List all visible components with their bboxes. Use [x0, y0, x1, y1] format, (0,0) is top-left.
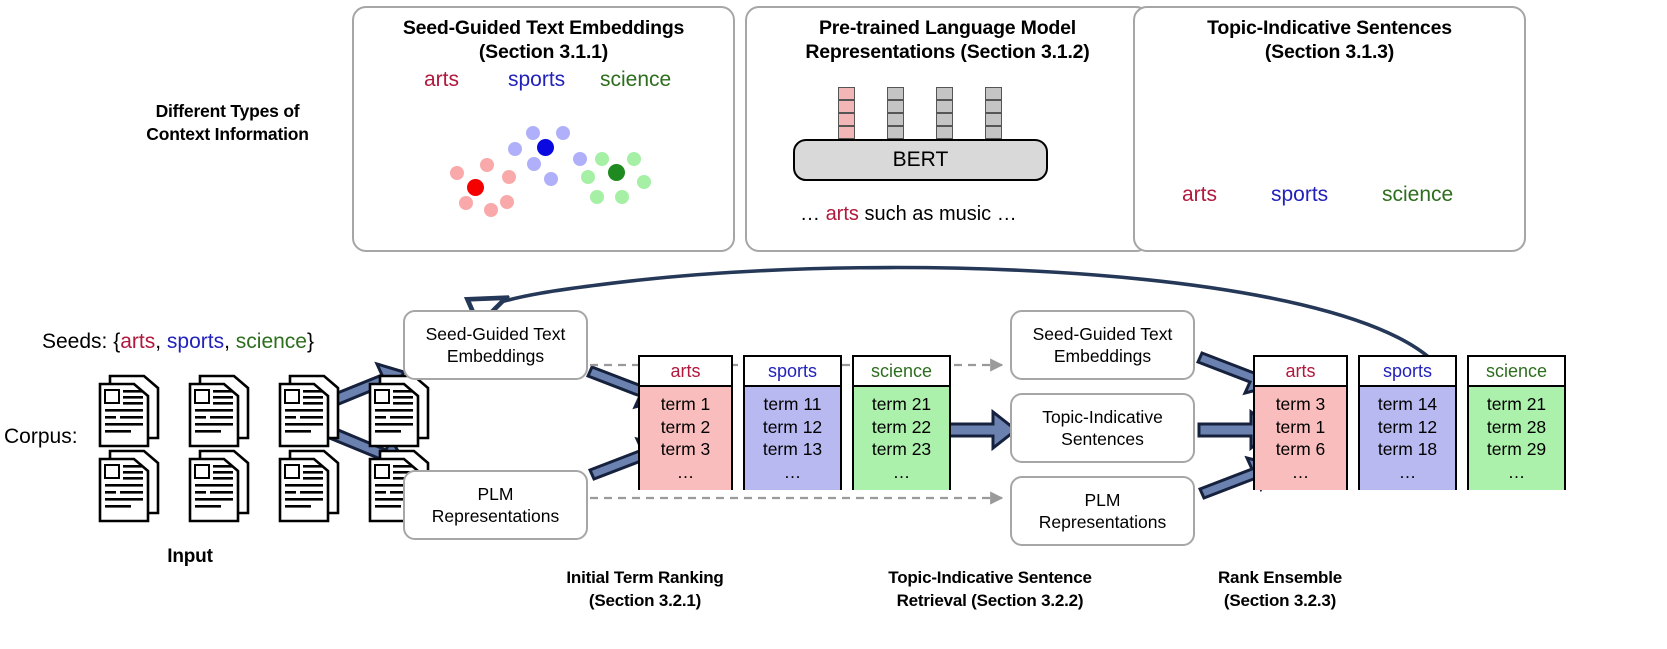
- module-line2: Embeddings: [426, 345, 566, 367]
- term-item: term 21: [1469, 393, 1564, 416]
- module-line1: Seed-Guided Text: [426, 323, 566, 345]
- term-item: …: [1255, 461, 1346, 484]
- module-seed-guided-text-embeddings-right[interactable]: Seed-Guided Text Embeddings: [1010, 310, 1195, 380]
- caption-rank-ensemble: Rank Ensemble (Section 3.2.3): [1155, 566, 1405, 612]
- rank-ensemble-column-arts: arts term 3 term 1 term 6 …: [1253, 355, 1348, 490]
- initial-ranking-column-science: science term 21 term 22 term 23 …: [852, 355, 951, 490]
- term-item: …: [1360, 461, 1455, 484]
- dot-science-centroid: [608, 164, 625, 181]
- dot-arts-pale: [500, 195, 514, 209]
- column-header: arts: [640, 357, 731, 387]
- panel3-label-science: science: [1382, 183, 1453, 207]
- panel3-label-arts: arts: [1182, 183, 1217, 207]
- column-header: arts: [1255, 357, 1346, 387]
- bert-model-box: BERT: [793, 139, 1048, 181]
- initial-ranking-column-arts: arts term 1 term 2 term 3 …: [638, 355, 733, 490]
- initial-ranking-column-sports: sports term 11 term 12 term 13 …: [743, 355, 842, 490]
- module-plm-representations-right[interactable]: PLM Representations: [1010, 476, 1195, 546]
- feedback-arrow: [478, 268, 1432, 360]
- vector-cell: [887, 126, 904, 139]
- module-line2: Embeddings: [1033, 345, 1173, 367]
- term-item: term 2: [640, 416, 731, 439]
- term-item: term 18: [1360, 438, 1455, 461]
- module-line2: Representations: [1039, 511, 1166, 533]
- dot-arts-pale: [459, 196, 473, 210]
- vector-cell: [936, 100, 953, 113]
- vector-cell-highlight: [838, 87, 855, 100]
- dot-sports-pale: [527, 157, 541, 171]
- left-header-line2: Context Information: [115, 123, 340, 146]
- term-item: term 1: [1255, 416, 1346, 439]
- bert-input-sentence: … arts such as music …: [800, 203, 1017, 226]
- term-item: term 3: [640, 438, 731, 461]
- dot-science-pale: [595, 152, 609, 166]
- dot-sports-centroid: [537, 139, 554, 156]
- dot-arts-pale: [480, 158, 494, 172]
- caption-line1: Rank Ensemble: [1155, 566, 1405, 589]
- scatter-label-arts: arts: [424, 68, 459, 92]
- sentence-highlight-arts: arts: [826, 203, 859, 225]
- term-item: …: [640, 461, 731, 484]
- term-item: term 23: [854, 438, 949, 461]
- caption-topic-indicative-sentence-retrieval: Topic-Indicative Sentence Retrieval (Sec…: [840, 566, 1140, 612]
- module-line1: Topic-Indicative: [1042, 406, 1163, 428]
- dot-arts-pale: [450, 166, 464, 180]
- input-label: Input: [130, 545, 250, 568]
- module-line2: Representations: [432, 505, 559, 527]
- column-body: term 11 term 12 term 13 …: [745, 387, 840, 490]
- vector-cell: [936, 87, 953, 100]
- dot-arts-pale: [502, 170, 516, 184]
- dot-sports-pale: [526, 126, 540, 140]
- column-body: term 21 term 28 term 29 …: [1469, 387, 1564, 490]
- term-item: term 22: [854, 416, 949, 439]
- module-topic-indicative-sentences-right[interactable]: Topic-Indicative Sentences: [1010, 393, 1195, 463]
- seeds-sep: ,: [155, 330, 167, 353]
- left-header: Different Types of Context Information: [115, 100, 340, 146]
- column-body: term 14 term 12 term 18 …: [1360, 387, 1455, 490]
- term-item: term 29: [1469, 438, 1564, 461]
- figure-root: Different Types of Context Information S…: [0, 0, 1667, 649]
- column-body: term 1 term 2 term 3 …: [640, 387, 731, 490]
- dot-arts-pale: [484, 203, 498, 217]
- vector-cell: [936, 113, 953, 126]
- term-item: …: [1469, 461, 1564, 484]
- term-item: term 11: [745, 393, 840, 416]
- rank-ensemble-column-sports: sports term 14 term 12 term 18 …: [1358, 355, 1457, 490]
- caption-line2: Retrieval (Section 3.2.2): [840, 589, 1140, 612]
- term-item: term 28: [1469, 416, 1564, 439]
- vector-cell-highlight: [838, 126, 855, 139]
- caption-initial-term-ranking: Initial Term Ranking (Section 3.2.1): [500, 566, 790, 612]
- dot-science-pale: [581, 170, 595, 184]
- dot-science-pale: [627, 152, 641, 166]
- module-line2: Sentences: [1042, 428, 1163, 450]
- dot-science-pale: [590, 190, 604, 204]
- sentence-prefix: …: [800, 203, 826, 225]
- column-header: sports: [745, 357, 840, 387]
- column-header: science: [1469, 357, 1564, 387]
- vector-cell: [887, 113, 904, 126]
- panel2-title: Pre-trained Language Model Representatio…: [745, 16, 1150, 64]
- caption-line1: Initial Term Ranking: [500, 566, 790, 589]
- panel3-title-line2: (Section 3.1.3): [1133, 40, 1526, 64]
- panel1-title: Seed-Guided Text Embeddings (Section 3.1…: [352, 16, 735, 64]
- dot-arts-centroid: [467, 179, 484, 196]
- vector-cell: [887, 100, 904, 113]
- seed-term-arts: arts: [120, 330, 155, 353]
- panel3-title: Topic-Indicative Sentences (Section 3.1.…: [1133, 16, 1526, 64]
- column-body: term 21 term 22 term 23 …: [854, 387, 949, 490]
- column-header: science: [854, 357, 949, 387]
- seed-term-sports: sports: [167, 330, 224, 353]
- panel3-title-line1: Topic-Indicative Sentences: [1133, 16, 1526, 40]
- term-item: term 21: [854, 393, 949, 416]
- panel1-title-line1: Seed-Guided Text Embeddings: [352, 16, 735, 40]
- module-line1: Seed-Guided Text: [1033, 323, 1173, 345]
- module-line1: PLM: [432, 483, 559, 505]
- vector-cell: [985, 113, 1002, 126]
- caption-line2: (Section 3.2.3): [1155, 589, 1405, 612]
- scatter-label-sports: sports: [508, 68, 565, 92]
- module-plm-representations-left[interactable]: PLM Representations: [403, 470, 588, 540]
- vector-cell: [887, 87, 904, 100]
- sentence-rest: such as music …: [859, 203, 1017, 225]
- vector-cell-highlight: [838, 113, 855, 126]
- term-item: term 12: [1360, 416, 1455, 439]
- vector-cell-highlight: [838, 100, 855, 113]
- panel2-title-line1: Pre-trained Language Model: [745, 16, 1150, 40]
- seeds-line: Seeds: {arts, sports, science}: [42, 330, 314, 354]
- vector-cell: [985, 100, 1002, 113]
- panel1-title-line2: (Section 3.1.1): [352, 40, 735, 64]
- term-item: term 12: [745, 416, 840, 439]
- term-item: term 3: [1255, 393, 1346, 416]
- seeds-close: }: [307, 330, 314, 353]
- panel2-title-line2: Representations (Section 3.1.2): [745, 40, 1150, 64]
- vector-cell: [936, 126, 953, 139]
- term-item: …: [745, 461, 840, 484]
- seed-term-science: science: [236, 330, 307, 353]
- term-item: term 13: [745, 438, 840, 461]
- column-header: sports: [1360, 357, 1455, 387]
- vector-cell: [985, 87, 1002, 100]
- term-item: term 14: [1360, 393, 1455, 416]
- dot-sports-pale: [573, 152, 587, 166]
- vector-cell: [985, 126, 1002, 139]
- caption-line1: Topic-Indicative Sentence: [840, 566, 1140, 589]
- seeds-sep: ,: [224, 330, 236, 353]
- corpus-label: Corpus:: [4, 425, 78, 449]
- module-line1: PLM: [1039, 489, 1166, 511]
- panel3-label-sports: sports: [1271, 183, 1328, 207]
- rank-ensemble-column-science: science term 21 term 28 term 29 …: [1467, 355, 1566, 490]
- term-item: term 6: [1255, 438, 1346, 461]
- dot-sports-pale: [556, 126, 570, 140]
- caption-line2: (Section 3.2.1): [500, 589, 790, 612]
- left-header-line1: Different Types of: [115, 100, 340, 123]
- term-item: …: [854, 461, 949, 484]
- module-seed-guided-text-embeddings-left[interactable]: Seed-Guided Text Embeddings: [403, 310, 588, 380]
- column-body: term 3 term 1 term 6 …: [1255, 387, 1346, 490]
- term-item: term 1: [640, 393, 731, 416]
- dot-sports-pale: [508, 142, 522, 156]
- dot-science-pale: [615, 190, 629, 204]
- scatter-label-science: science: [600, 68, 671, 92]
- dot-science-pale: [637, 175, 651, 189]
- seeds-label: Seeds: {: [42, 330, 120, 353]
- bert-label: BERT: [893, 148, 949, 172]
- dot-sports-pale: [544, 172, 558, 186]
